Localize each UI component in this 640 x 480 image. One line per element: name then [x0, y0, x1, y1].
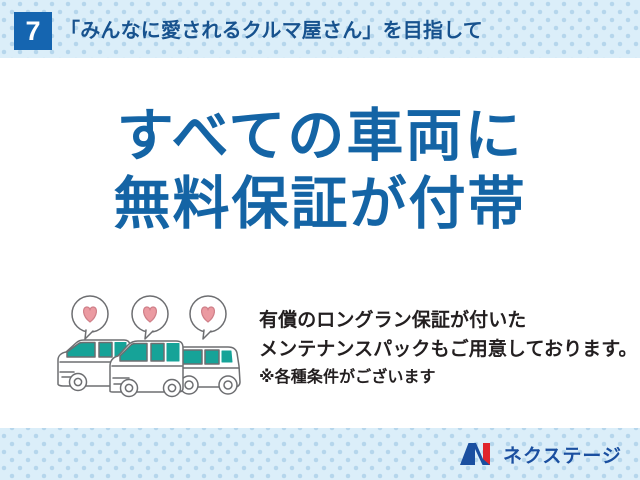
headline: すべての車両に 無料保証が付帯 — [0, 102, 640, 238]
description-line-1: 有償のロングラン保証が付いた — [259, 306, 631, 335]
nexstage-logo: ネクステージ — [459, 438, 622, 470]
description-block: 有償のロングラン保証が付いた メンテナンスパックもご用意しております。 ※各種条… — [259, 306, 631, 391]
headline-line-2: 無料保証が付帯 — [0, 170, 640, 238]
warranty-banner: 7 「みんなに愛されるクルマ屋さん」を目指して すべての車両に 無料保証が付帯 — [0, 0, 640, 480]
nexstage-logo-mark-icon — [459, 441, 495, 467]
description-note: ※各種条件がございます — [259, 364, 631, 391]
description-line-2: メンテナンスパックもご用意しております。 — [259, 335, 631, 364]
heart-bubble-3 — [190, 296, 226, 339]
cars-illustration-svg — [52, 294, 248, 402]
banner-header: 7 「みんなに愛されるクルマ屋さん」を目指して — [0, 0, 640, 58]
cars-illustration — [52, 294, 248, 402]
brand-name: ネクステージ — [503, 441, 622, 468]
headline-line-1: すべての車両に — [0, 102, 640, 170]
heart-bubble-1 — [72, 296, 108, 339]
step-number-badge: 7 — [14, 12, 52, 50]
heart-bubble-2 — [132, 296, 168, 339]
content-card: すべての車両に 無料保証が付帯 — [0, 58, 640, 428]
header-title: 「みんなに愛されるクルマ屋さん」を目指して — [60, 12, 483, 50]
banner-footer: ネクステージ — [0, 428, 640, 480]
